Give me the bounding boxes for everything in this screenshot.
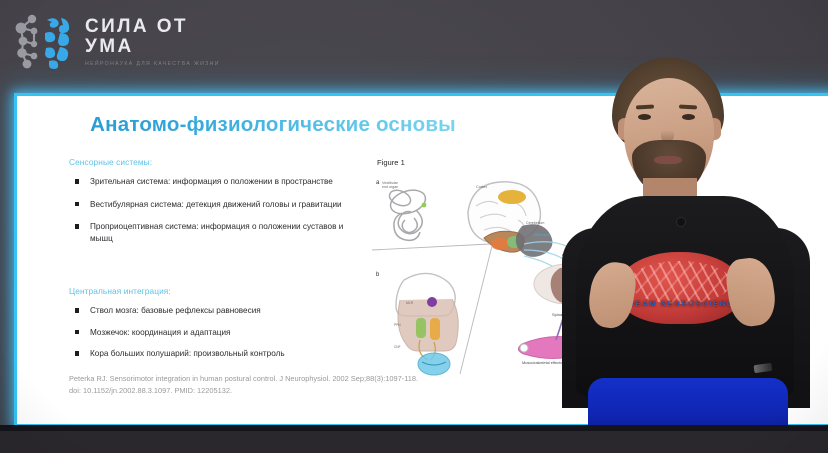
presenter-brow-right [679, 105, 697, 110]
presenter-nose [661, 122, 674, 142]
list-item: Мозжечок: координация и адаптация [69, 327, 369, 339]
list-item: Проприоцептивная система: информация о п… [69, 221, 364, 244]
figure-label: Figure 1 [377, 158, 405, 167]
sensory-bullet-list: Зрительная система: информация о положен… [69, 176, 364, 245]
frame-bottom-bar [0, 431, 828, 453]
svg-text:MLR: MLR [406, 301, 414, 305]
split-brain-network-icon [14, 12, 76, 70]
presenter-pants [588, 378, 788, 431]
svg-text:a: a [376, 180, 380, 186]
list-item: Зрительная система: информация о положен… [69, 176, 364, 188]
presenter-eye-right [682, 114, 695, 120]
video-frame: СИЛА ОТ УМА нейронаука для качества жизн… [0, 0, 828, 453]
svg-text:PPN: PPN [394, 323, 401, 327]
section-heading-sensory: Сенсорные системы: [69, 157, 364, 167]
lavalier-mic-icon [676, 217, 686, 227]
sensory-systems-block: Сенсорные системы: Зрительная система: и… [69, 157, 364, 256]
svg-text:Cortex: Cortex [476, 185, 487, 189]
svg-text:CNF: CNF [394, 345, 401, 349]
central-integration-block: Центральная интеграция: Ствол мозга: баз… [69, 286, 369, 370]
slide-title: Анатомо-физиологические основы [17, 113, 529, 137]
brand-tagline: нейронаука для качества жизни [85, 61, 229, 67]
presenter-mouth [654, 156, 682, 164]
central-bullet-list: Ствол мозга: базовые рефлексы равновесия… [69, 305, 369, 360]
tshirt-text: DREAM NEUROSCIENCE [614, 299, 748, 308]
section-heading-central: Центральная интеграция: [69, 286, 369, 296]
svg-text:end organ: end organ [382, 185, 398, 189]
brand-logo: СИЛА ОТ УМА нейронаука для качества жизн… [14, 10, 229, 72]
list-item: Ствол мозга: базовые рефлексы равновесия [69, 305, 369, 317]
list-item: Вестибулярная система: детекция движений… [69, 199, 364, 211]
presenter-eye-left [638, 114, 651, 120]
brand-name: СИЛА ОТ УМА [85, 17, 229, 57]
presenter-video: DREAM NEUROSCIENCE [528, 0, 828, 431]
list-item: Кора больших полушарий: произвольный кон… [69, 348, 369, 360]
svg-text:b: b [376, 272, 380, 278]
